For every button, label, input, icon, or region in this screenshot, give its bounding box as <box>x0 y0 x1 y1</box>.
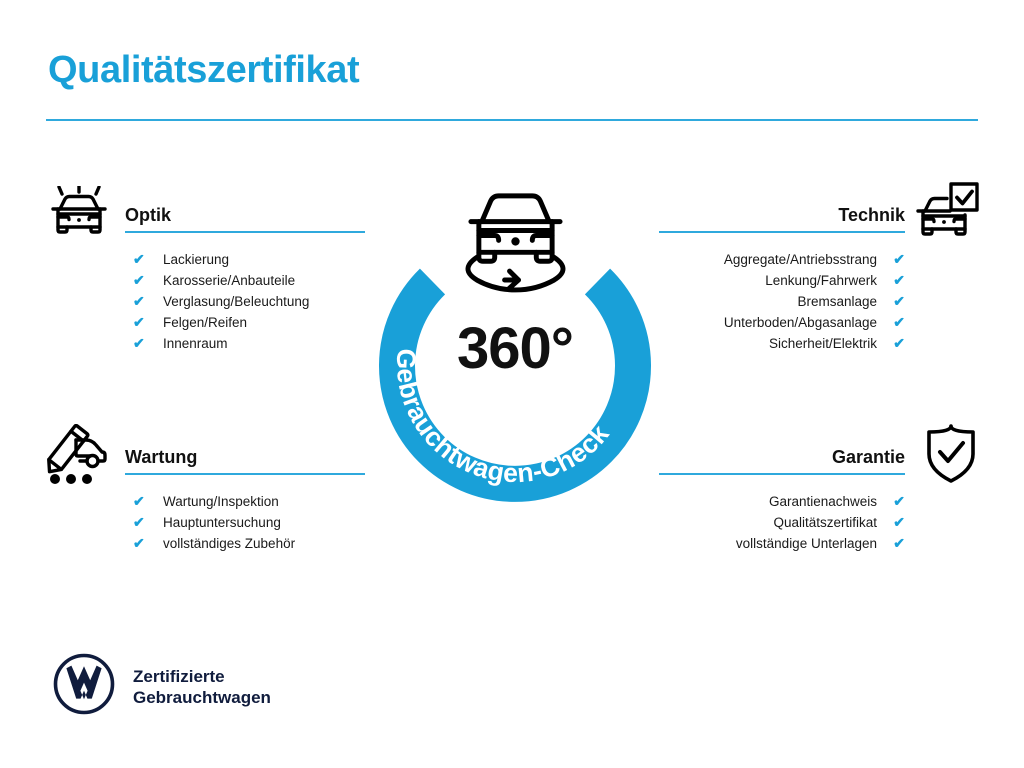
check-icon: ✔ <box>133 270 163 291</box>
header-divider <box>46 119 978 121</box>
badge-center-label: 360° <box>369 320 661 378</box>
car-front-checkbox-icon <box>916 182 980 249</box>
section-garantie-list: Garantienachweis ✔ Qualitätszertifikat ✔… <box>659 491 905 554</box>
list-item-label: Garantienachweis <box>769 491 877 512</box>
section-wartung-divider <box>125 473 365 475</box>
list-item-label: Lenkung/Fahrwerk <box>765 270 877 291</box>
list-item-label: Innenraum <box>163 333 228 354</box>
list-item-label: Verglasung/Beleuchtung <box>163 291 309 312</box>
list-item-label: vollständige Unterlagen <box>736 533 877 554</box>
certificate-page: Qualitätszertifikat <box>0 0 1024 768</box>
badge-360-gebrauchtwagen-check: Gebrauchtwagen-Check 360° <box>369 178 661 510</box>
list-item: Lenkung/Fahrwerk ✔ <box>659 270 905 291</box>
list-item-label: Felgen/Reifen <box>163 312 247 333</box>
footer-brand-line2: Gebrauchtwagen <box>133 687 271 708</box>
list-item: ✔ Wartung/Inspektion <box>133 491 365 512</box>
list-item: Unterboden/Abgasanlage ✔ <box>659 312 905 333</box>
list-item-label: Lackierung <box>163 249 229 270</box>
list-item: ✔ Karosserie/Anbauteile <box>133 270 365 291</box>
list-item: ✔ Lackierung <box>133 249 365 270</box>
list-item: ✔ Felgen/Reifen <box>133 312 365 333</box>
section-garantie-divider <box>659 473 905 475</box>
list-item: ✔ Innenraum <box>133 333 365 354</box>
check-icon: ✔ <box>877 312 905 333</box>
check-icon: ✔ <box>877 270 905 291</box>
section-technik-heading: Technik <box>659 206 905 224</box>
check-icon: ✔ <box>133 312 163 333</box>
section-wartung: Wartung ✔ Wartung/Inspektion ✔ Hauptunte… <box>125 448 365 554</box>
list-item: vollständige Unterlagen ✔ <box>659 533 905 554</box>
footer-brand-line1: Zertifizierte <box>133 666 271 687</box>
footer-brand: Zertifizierte Gebrauchtwagen <box>53 653 271 720</box>
list-item-label: Unterboden/Abgasanlage <box>724 312 877 333</box>
list-item: Qualitätszertifikat ✔ <box>659 512 905 533</box>
check-icon: ✔ <box>133 533 163 554</box>
shield-check-icon <box>924 424 978 489</box>
list-item-label: Karosserie/Anbauteile <box>163 270 295 291</box>
footer-brand-text: Zertifizierte Gebrauchtwagen <box>133 666 271 708</box>
check-icon: ✔ <box>877 291 905 312</box>
list-item: Garantienachweis ✔ <box>659 491 905 512</box>
section-garantie: Garantie Garantienachweis ✔ Qualitätszer… <box>659 448 905 554</box>
list-item-label: Aggregate/Antriebsstrang <box>724 249 877 270</box>
list-item: ✔ vollständiges Zubehör <box>133 533 365 554</box>
check-icon: ✔ <box>877 333 905 354</box>
car-rotate-icon <box>468 196 563 290</box>
list-item: Sicherheit/Elektrik ✔ <box>659 333 905 354</box>
page-title: Qualitätszertifikat <box>48 51 359 89</box>
section-technik-list: Aggregate/Antriebsstrang ✔ Lenkung/Fahrw… <box>659 249 905 354</box>
list-item: Bremsanlage ✔ <box>659 291 905 312</box>
check-icon: ✔ <box>133 291 163 312</box>
check-icon: ✔ <box>133 249 163 270</box>
check-icon: ✔ <box>877 533 905 554</box>
car-front-lights-icon <box>48 186 110 247</box>
vw-roundel-logo <box>53 653 115 720</box>
list-item-label: Bremsanlage <box>797 291 877 312</box>
section-optik-divider <box>125 231 365 233</box>
check-icon: ✔ <box>877 491 905 512</box>
check-icon: ✔ <box>133 491 163 512</box>
section-garantie-heading: Garantie <box>659 448 905 466</box>
section-wartung-list: ✔ Wartung/Inspektion ✔ Hauptuntersuchung… <box>125 491 365 554</box>
list-item-label: Hauptuntersuchung <box>163 512 281 533</box>
section-optik-list: ✔ Lackierung ✔ Karosserie/Anbauteile ✔ V… <box>125 249 365 354</box>
pencil-car-service-icon <box>46 424 110 491</box>
section-technik-divider <box>659 231 905 233</box>
section-optik: Optik ✔ Lackierung ✔ Karosserie/Anbautei… <box>125 206 365 354</box>
list-item: ✔ Hauptuntersuchung <box>133 512 365 533</box>
check-icon: ✔ <box>877 249 905 270</box>
section-wartung-heading: Wartung <box>125 448 365 466</box>
check-icon: ✔ <box>133 512 163 533</box>
check-icon: ✔ <box>133 333 163 354</box>
list-item-label: vollständiges Zubehör <box>163 533 295 554</box>
section-technik: Technik Aggregate/Antriebsstrang ✔ Lenku… <box>659 206 905 354</box>
list-item: Aggregate/Antriebsstrang ✔ <box>659 249 905 270</box>
list-item-label: Qualitätszertifikat <box>773 512 877 533</box>
check-icon: ✔ <box>877 512 905 533</box>
list-item-label: Sicherheit/Elektrik <box>769 333 877 354</box>
section-optik-heading: Optik <box>125 206 365 224</box>
list-item-label: Wartung/Inspektion <box>163 491 279 512</box>
list-item: ✔ Verglasung/Beleuchtung <box>133 291 365 312</box>
